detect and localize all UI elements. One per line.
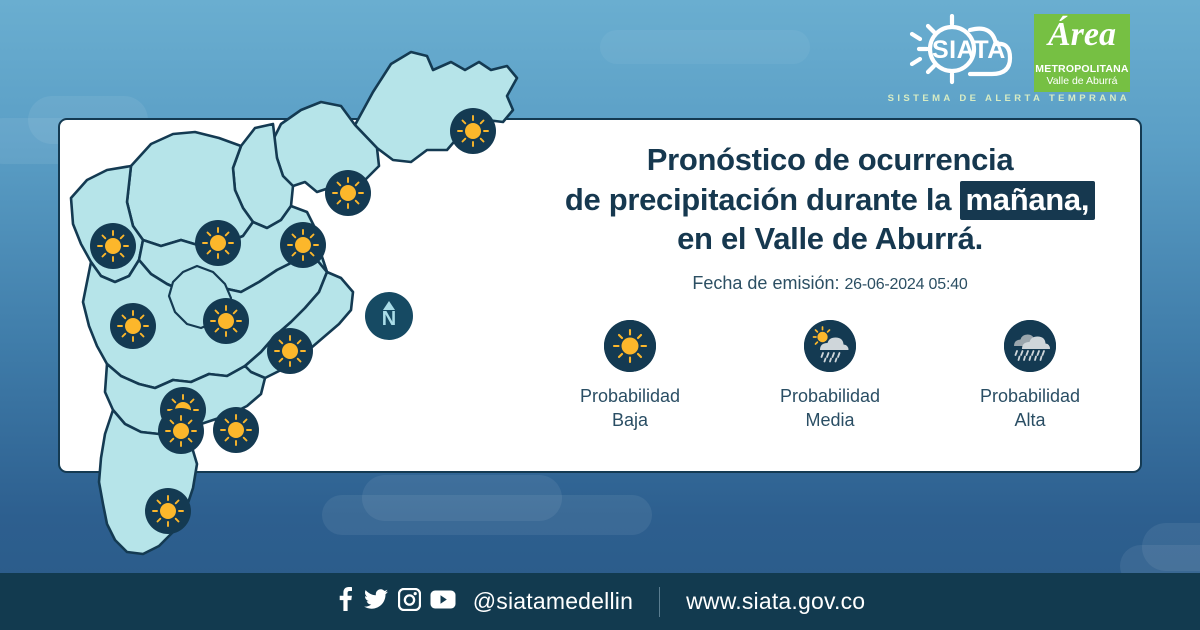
- sun-icon: [145, 488, 191, 534]
- sun-icon: [604, 320, 656, 372]
- area-subtitle-1: METROPOLITANA: [1035, 63, 1128, 75]
- siata-logo: SIATA: [906, 14, 1026, 88]
- legend-item-media: Probabilidad Media: [740, 320, 920, 433]
- legend-alta-line2: Alta: [940, 408, 1120, 432]
- logo-bar: SIATA Área METROPOLITANA Valle de Aburrá: [906, 14, 1130, 92]
- siata-wordmark: SIATA: [932, 36, 1006, 65]
- youtube-icon[interactable]: [430, 590, 456, 614]
- title-line-2-text: de precipitación durante la: [565, 182, 960, 217]
- social-links: @siatamedellin: [335, 587, 633, 616]
- legend-label-baja: Probabilidad Baja: [540, 384, 720, 433]
- emission-date: Fecha de emisión:26-06-2024 05:40: [530, 273, 1130, 294]
- probability-legend: Probabilidad Baja: [530, 320, 1130, 433]
- siata-tagline: SISTEMA DE ALERTA TEMPRANA: [888, 93, 1130, 104]
- marker-caldas[interactable]: [145, 488, 191, 534]
- facebook-icon[interactable]: [335, 587, 355, 616]
- legend-item-alta: Probabilidad Alta: [940, 320, 1120, 433]
- legend-item-baja: Probabilidad Baja: [540, 320, 720, 433]
- legend-alta-line1: Probabilidad: [940, 384, 1120, 408]
- legend-label-alta: Probabilidad Alta: [940, 384, 1120, 433]
- cloud-heavy-rain-icon: [1004, 320, 1056, 372]
- title-line-1: Pronóstico de ocurrencia: [530, 140, 1130, 180]
- social-handle[interactable]: @siatamedellin: [473, 588, 633, 615]
- legend-label-media: Probabilidad Media: [740, 384, 920, 433]
- content-card: Pronóstico de ocurrencia de precipitació…: [58, 118, 1142, 473]
- sun-cloud-rain-icon: [804, 320, 856, 372]
- area-script-wordmark: Área: [1034, 18, 1130, 52]
- legend-baja-line1: Probabilidad: [540, 384, 720, 408]
- emission-label: Fecha de emisión:: [692, 273, 839, 293]
- page-title: Pronóstico de ocurrencia de precipitació…: [530, 140, 1130, 259]
- website-url[interactable]: www.siata.gov.co: [686, 588, 865, 615]
- emission-value: 26-06-2024 05:40: [844, 276, 967, 293]
- legend-baja-line2: Baja: [540, 408, 720, 432]
- instagram-icon[interactable]: [398, 588, 421, 616]
- footer-divider: [659, 587, 660, 617]
- area-subtitle-2: Valle de Aburrá: [1046, 75, 1117, 87]
- title-line-3: en el Valle de Aburrá.: [530, 219, 1130, 259]
- area-metropolitana-logo: Área METROPOLITANA Valle de Aburrá: [1034, 14, 1130, 92]
- forecast-text-panel: Pronóstico de ocurrencia de precipitació…: [530, 140, 1130, 294]
- footer-bar: @siatamedellin www.siata.gov.co: [0, 573, 1200, 630]
- background-cloud-bottom-center: [322, 495, 652, 535]
- legend-media-line2: Media: [740, 408, 920, 432]
- title-line-2: de precipitación durante la mañana,: [530, 180, 1130, 220]
- background-cloud-top: [600, 30, 810, 64]
- title-highlight: mañana,: [960, 181, 1096, 220]
- legend-media-line1: Probabilidad: [740, 384, 920, 408]
- twitter-icon[interactable]: [364, 587, 389, 616]
